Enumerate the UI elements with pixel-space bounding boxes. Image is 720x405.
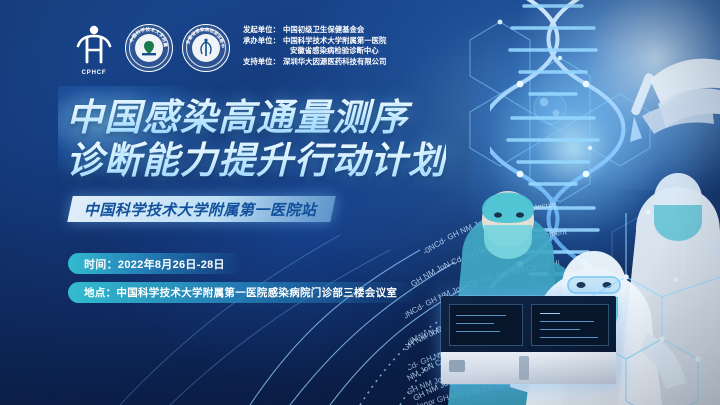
organizer-value: 安徽省感染病检验诊断中心: [290, 46, 379, 57]
organizer-line: 发起单位： 中国初级卫生保健基金会: [243, 25, 386, 36]
subtitle-text: 中国科学技术大学附属第一医院站: [84, 199, 317, 220]
place-value: 中国科学技术大学附属第一医院感染病院门诊部三楼会议室: [116, 285, 397, 300]
organizer-line: 安徽省感染病检验诊断中心: [243, 46, 386, 57]
time-value: 2022年8月26日-28日: [118, 256, 225, 272]
anhui-center-seal: 安徽省感染病检验诊断中心: [182, 24, 230, 72]
organizer-value: 中国科学技术大学附属第一医院: [283, 36, 386, 47]
event-poster: -0NCd- GH NM JoN Cd- I o Hi molecule GH …: [0, 0, 720, 405]
cphcf-abbr: CPHCF: [72, 70, 116, 76]
organizer-value: 深圳华大因源医药科技有限公司: [283, 57, 386, 68]
seal-emblem: [135, 34, 163, 62]
event-location-badge: 地点： 中国科学技术大学附属第一医院感染病院门诊部三楼会议室: [68, 282, 413, 303]
organizer-text-block: 发起单位： 中国初级卫生保健基金会 承办单位： 中国科学技术大学附属第一医院 安…: [243, 24, 386, 67]
cphcf-figure-icon: [72, 24, 116, 66]
seal-cross-icon: [138, 37, 160, 59]
subtitle-banner: 中国科学技术大学附属第一医院站: [67, 196, 335, 222]
organizer-key: 发起单位：: [243, 25, 280, 36]
seal-emblem: [192, 34, 220, 62]
organizer-line: 承办单位： 中国科学技术大学附属第一医院: [243, 36, 386, 47]
place-label: 地点：: [84, 285, 116, 300]
cphcf-logo: CPHCF: [72, 24, 116, 76]
organizer-key: 承办单位：: [243, 36, 280, 47]
caduceus-icon: [195, 37, 217, 59]
organizer-value: 中国初级卫生保健基金会: [283, 25, 364, 36]
event-time-badge: 时间： 2022年8月26日-28日: [68, 253, 241, 274]
organizer-line: 支持单位： 深圳华大因源医药科技有限公司: [243, 57, 386, 68]
time-label: 时间：: [84, 256, 118, 272]
title-line-2: 诊断能力提升行动计划: [66, 139, 446, 182]
organizer-key: 支持单位：: [243, 57, 280, 68]
title-line-1: 中国感染高通量测序: [66, 96, 446, 139]
ustc-hospital-seal: 中国科学技术大学附属第一医院: [125, 24, 173, 72]
poster-content: CPHCF 中国科学技术大学附属第一医院: [0, 0, 720, 405]
organizer-header: CPHCF 中国科学技术大学附属第一医院: [72, 24, 386, 76]
poster-title: 中国感染高通量测序 诊断能力提升行动计划: [66, 96, 446, 182]
